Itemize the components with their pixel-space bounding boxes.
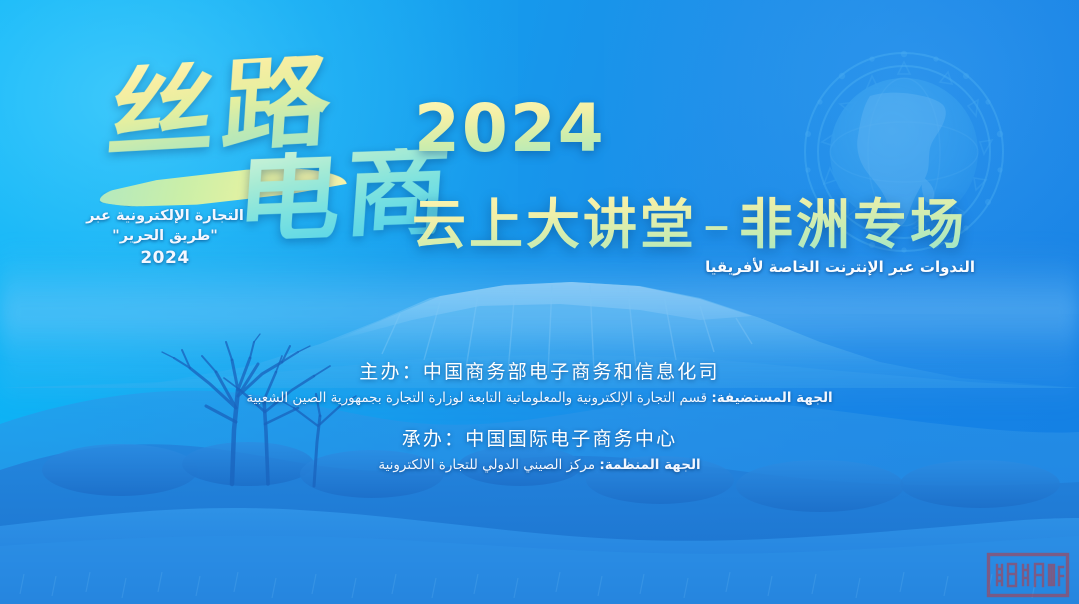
logo-arabic-line2: "طريق الحرير" [50,226,280,246]
host-arabic: الجهة المستضيفة: قسم التجارة الإلكترونية… [0,388,1079,409]
headline-title-left: 云上大讲堂 [412,193,697,256]
headline-dash: – [697,193,739,256]
organizer-arabic: الجهة المنظمة: مركز الصيني الدولي للتجار… [0,455,1079,476]
seal-stamp-watermark [986,552,1070,598]
credits-block: 主办：中国商务部电子商务和信息化司 الجهة المستضيفة: قسم ا… [0,358,1079,476]
host-arabic-value: قسم التجارة الإلكترونية والمعلوماتية الت… [246,390,707,406]
logo-arabic-line1: التجارة الإلكترونية عبر [50,206,280,226]
organizer-arabic-value: مركز الصيني الدولي للتجارة الالكترونية [378,457,595,473]
text-layer: 丝路 电商 التجارة الإلكترونية عبر "طريق الحر… [0,0,1079,604]
organizer-chinese: 承办：中国国际电子商务中心 [0,425,1079,454]
host-chinese: 主办：中国商务部电子商务和信息化司 [0,358,1079,387]
logo-arabic-year: 2024 [50,247,280,271]
credits-spacer [0,408,1079,425]
logo-arabic-block: التجارة الإلكترونية عبر "طريق الحرير" 20… [50,206,280,270]
headline-title-right: 非洲专场 [739,193,967,256]
headline-arabic-subtitle: الندوات عبر الإنترنت الخاصة لأفريقيا [705,258,975,276]
headline-year: 2024 [414,96,606,162]
host-arabic-label: الجهة المستضيفة: [711,390,832,406]
organizer-arabic-label: الجهة المنظمة: [599,457,700,473]
headline-title: 云上大讲堂–非洲专场 [412,196,967,253]
poster-canvas: 丝路 电商 التجارة الإلكترونية عبر "طريق الحر… [0,0,1079,604]
